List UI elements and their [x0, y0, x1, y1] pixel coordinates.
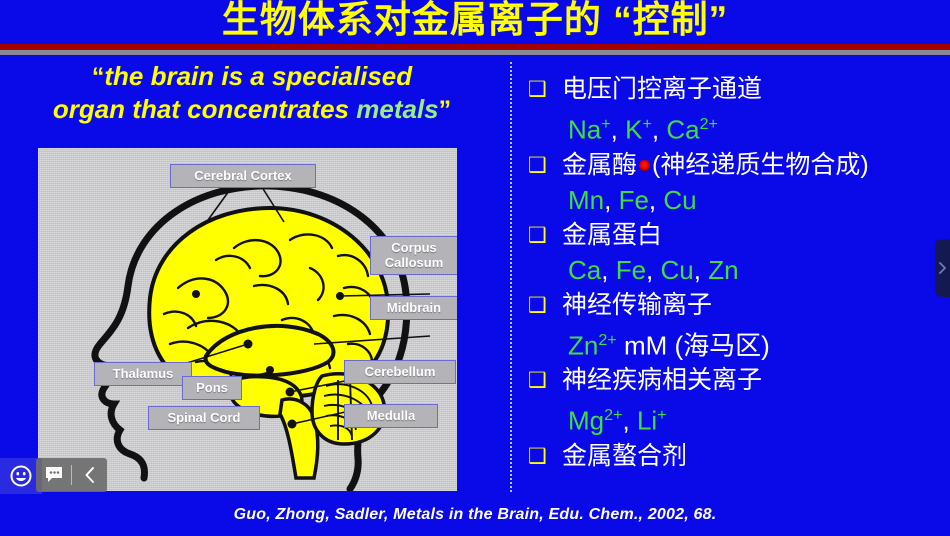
bullet-square-icon: ❑	[528, 439, 562, 473]
slide-canvas: 生物体系对金属离子的 “控制” “the brain is a speciali…	[0, 0, 950, 536]
metal-ion-bullet-list: ❑ 电压门控离子通道 Na+, K+, Ca2+ ❑ 金属酶(神经递质生物合成)…	[528, 72, 948, 473]
column-divider	[510, 62, 512, 492]
figure-label-thalamus: Thalamus	[94, 362, 192, 386]
list-item: ❑ 金属蛋白	[528, 218, 948, 252]
list-item: ❑ 神经传输离子	[528, 288, 948, 322]
figure-label-corpus-callosum-line1: Corpus	[391, 240, 437, 255]
bullet-heading: 神经疾病相关离子	[562, 363, 762, 397]
bullet-subline: Zn2+ mM (海马区)	[568, 322, 948, 364]
quote-line-1: the brain is a specialised	[104, 61, 412, 91]
figure-label-cerebral-cortex: Cerebral Cortex	[170, 164, 316, 188]
bullet-heading: 神经传输离子	[562, 288, 712, 322]
chevron-left-glyph	[83, 466, 97, 484]
brain-anatomy-figure: Cerebral Cortex Corpus Callosum Midbrain…	[38, 148, 457, 491]
bullet-square-icon: ❑	[528, 148, 562, 182]
comment-bubble-glyph	[44, 466, 64, 484]
comment-bubble-icon[interactable]	[36, 458, 71, 492]
figure-label-medulla: Medulla	[344, 404, 438, 428]
side-panel-toggle[interactable]	[935, 239, 950, 297]
figure-label-corpus-callosum-line2: Callosum	[385, 255, 444, 270]
chevron-left-icon[interactable]	[72, 458, 107, 492]
quote-line-2-lead: organ that concentrates	[53, 94, 356, 124]
bullet-square-icon: ❑	[528, 218, 562, 252]
source-citation: Guo, Zhong, Sadler, Metals in the Brain,…	[0, 506, 950, 524]
figure-label-cerebellum: Cerebellum	[344, 360, 456, 384]
figure-label-midbrain: Midbrain	[370, 296, 457, 320]
bullet-heading: 金属螯合剂	[562, 439, 687, 473]
bullet-heading-prefix: 金属酶	[562, 151, 637, 179]
bullet-heading: 金属酶(神经递质生物合成)	[562, 148, 869, 182]
list-item: ❑ 神经疾病相关离子	[528, 363, 948, 397]
bullet-square-icon: ❑	[528, 288, 562, 322]
bullet-heading: 电压门控离子通道	[562, 72, 762, 106]
bullet-subline: Ca, Fe, Cu, Zn	[568, 252, 948, 288]
figure-label-pons: Pons	[182, 376, 242, 400]
figure-label-spinal-cord: Spinal Cord	[148, 406, 260, 430]
title-rule-gray	[0, 50, 950, 55]
bullet-subline: Mg2+, Li+	[568, 397, 948, 439]
smiley-face-glyph	[10, 465, 32, 487]
quote-open-mark: “	[92, 63, 105, 91]
bullet-square-icon: ❑	[528, 72, 562, 106]
bullet-heading-suffix: (神经递质生物合成)	[652, 151, 869, 179]
chevron-collapse-icon	[938, 262, 948, 274]
bullet-subline: Na+, K+, Ca2+	[568, 106, 948, 148]
brain-quote: “the brain is a specialised organ that c…	[12, 60, 492, 126]
figure-label-corpus-callosum: Corpus Callosum	[370, 236, 457, 275]
bullet-square-icon: ❑	[528, 363, 562, 397]
list-item: ❑ 电压门控离子通道	[528, 72, 948, 106]
bullet-subline: Mn, Fe, Cu	[568, 182, 948, 218]
bullet-heading: 金属蛋白	[562, 218, 662, 252]
quote-close-mark: ”	[439, 96, 452, 124]
list-item: ❑ 金属螯合剂	[528, 439, 948, 473]
presentation-overlay-toolbar	[36, 458, 107, 492]
red-dot-icon	[639, 160, 650, 171]
list-item: ❑ 金属酶(神经递质生物合成)	[528, 148, 948, 182]
quote-highlight-metals: metals	[356, 94, 438, 124]
page-title: 生物体系对金属离子的 “控制”	[0, 0, 950, 42]
